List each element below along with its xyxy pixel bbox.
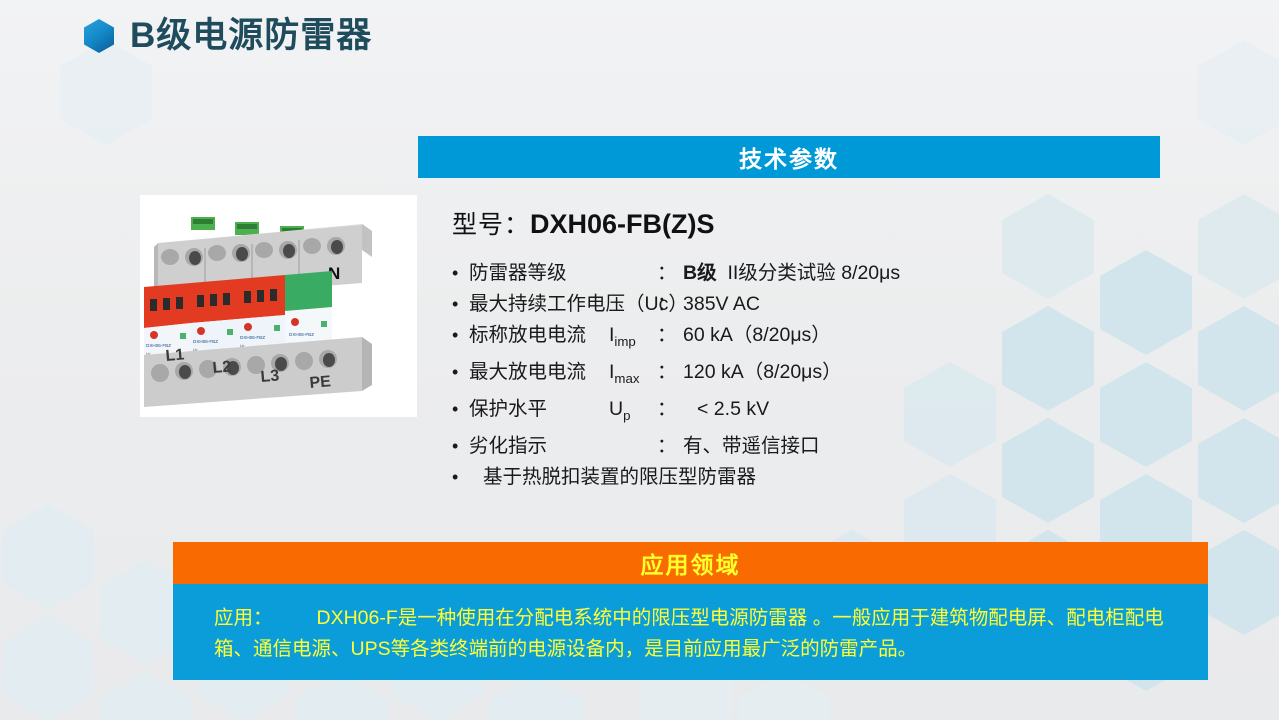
svg-text:L2: L2 xyxy=(212,358,232,377)
spec-symbol: Imax xyxy=(609,357,657,394)
slide-canvas: B级电源防雷器 技术参数 xyxy=(0,0,1279,720)
spec-row-up: • 保护水平 Up ： < 2.5 kV xyxy=(452,394,1152,431)
spec-value: 120 kA（8/20μs） xyxy=(683,357,842,388)
tech-params-header: 技术参数 xyxy=(418,136,1160,178)
spec-symbol-base: U xyxy=(609,398,623,420)
spec-colon: ： xyxy=(657,258,683,289)
spec-label: 最大放电电流 xyxy=(469,357,609,388)
application-label: 应用： xyxy=(214,607,273,629)
application-paragraph: DXH06-F是一种使用在分配电系统中的限压型电源防雷器 。一般应用于建筑物配电… xyxy=(214,607,1164,660)
product-image: N xyxy=(140,195,417,417)
spec-colon: ： xyxy=(657,431,683,462)
spec-label: 标称放电电流 xyxy=(469,320,609,351)
model-label: 型号： xyxy=(452,211,530,239)
spec-symbol-sub: imp xyxy=(614,334,635,349)
spec-list: • 防雷器等级 ： B级 II级分类试验 8/20μs • 最大持续工作电压（U… xyxy=(452,258,1152,493)
spec-value-rest: II级分类试验 8/20μs xyxy=(727,262,900,284)
model-line: 型号：DXH06-FB(Z)S xyxy=(452,205,715,241)
spec-label: 防雷器等级 xyxy=(469,258,657,289)
spec-colon: ： xyxy=(657,394,683,425)
spec-value: B级 II级分类试验 8/20μs xyxy=(683,258,900,289)
spd-module-illustration: N xyxy=(140,195,417,417)
svg-text:DXH06-FBZ: DXH06-FBZ xyxy=(193,339,218,344)
tech-params-header-label: 技术参数 xyxy=(739,140,839,174)
spec-label: 最大持续工作电压（Uc） xyxy=(469,289,657,320)
spec-value: 60 kA（8/20μs） xyxy=(683,320,831,351)
spec-row-note: • 基于热脱扣装置的限压型防雷器 xyxy=(452,462,1152,493)
spec-bullet-icon: • xyxy=(452,258,469,289)
spec-label: 保护水平 xyxy=(469,394,609,425)
application-body: 应用：DXH06-F是一种使用在分配电系统中的限压型电源防雷器 。一般应用于建筑… xyxy=(173,584,1208,680)
spec-value: 有、带遥信接口 xyxy=(683,431,820,462)
spec-bullet-icon: • xyxy=(452,462,469,493)
spec-bullet-icon: • xyxy=(452,289,469,320)
svg-text:DXH06-FBZ: DXH06-FBZ xyxy=(240,335,265,340)
spec-symbol: Up xyxy=(609,394,657,431)
spec-label: 劣化指示 xyxy=(469,431,657,462)
svg-text:PE: PE xyxy=(309,373,332,392)
page-title: B级电源防雷器 xyxy=(130,18,372,53)
spec-bullet-icon: • xyxy=(452,320,469,351)
spec-value-emphasis: B级 xyxy=(683,262,717,284)
spec-bullet-icon: • xyxy=(452,431,469,462)
spec-row-indicator: • 劣化指示 ： 有、带遥信接口 xyxy=(452,431,1152,462)
slide-header: B级电源防雷器 xyxy=(84,18,372,53)
spec-colon: ： xyxy=(657,289,683,320)
spec-value: 385V AC xyxy=(683,289,760,320)
spec-colon: ： xyxy=(657,320,683,351)
application-header: 应用领域 xyxy=(173,542,1208,584)
application-header-label: 应用领域 xyxy=(641,546,741,580)
svg-text:DXH06-FBZ: DXH06-FBZ xyxy=(289,332,314,337)
svg-text:L1: L1 xyxy=(165,346,185,365)
spec-row-uc: • 最大持续工作电压（Uc） ： 385V AC xyxy=(452,289,1152,320)
spec-row-iimp: • 标称放电电流 Iimp ： 60 kA（8/20μs） xyxy=(452,320,1152,357)
spec-symbol-sub: max xyxy=(614,371,639,386)
spec-value: 基于热脱扣装置的限压型防雷器 xyxy=(469,462,756,493)
spec-value: < 2.5 kV xyxy=(683,394,769,425)
spec-symbol-sub: p xyxy=(623,408,630,423)
svg-text:L3: L3 xyxy=(260,367,280,386)
spec-colon: ： xyxy=(657,357,683,388)
spec-symbol: Iimp xyxy=(609,320,657,357)
spec-bullet-icon: • xyxy=(452,357,469,388)
application-text: 应用：DXH06-F是一种使用在分配电系统中的限压型电源防雷器 。一般应用于建筑… xyxy=(214,603,1198,665)
hexagon-icon xyxy=(84,19,114,53)
model-value: DXH06-FB(Z)S xyxy=(530,209,715,239)
spec-bullet-icon: • xyxy=(452,394,469,425)
spec-row-grade: • 防雷器等级 ： B级 II级分类试验 8/20μs xyxy=(452,258,1152,289)
spec-row-imax: • 最大放电电流 Imax ： 120 kA（8/20μs） xyxy=(452,357,1152,394)
